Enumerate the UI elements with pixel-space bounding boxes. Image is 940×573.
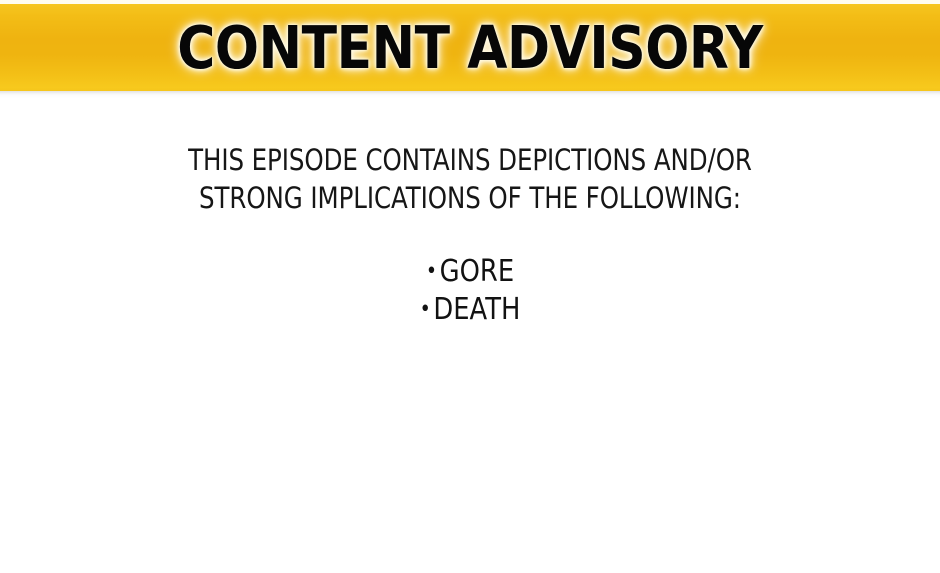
advisory-warning-list: •GORE •DEATH bbox=[0, 253, 940, 329]
advisory-intro: THIS EPISODE CONTAINS DEPICTIONS AND/OR … bbox=[0, 141, 940, 217]
content-advisory-slide: CONTENT ADVISORY THIS EPISODE CONTAINS D… bbox=[0, 0, 940, 573]
bullet-icon: • bbox=[426, 259, 440, 284]
page-title: CONTENT ADVISORY bbox=[56, 4, 883, 91]
banner-gradient-fill: CONTENT ADVISORY bbox=[0, 4, 940, 91]
advisory-body: THIS EPISODE CONTAINS DEPICTIONS AND/OR … bbox=[0, 98, 940, 573]
advisory-intro-line-2: STRONG IMPLICATIONS OF THE FOLLOWING: bbox=[73, 179, 867, 217]
advisory-intro-line-1: THIS EPISODE CONTAINS DEPICTIONS AND/OR bbox=[73, 141, 867, 179]
bullet-icon: • bbox=[420, 297, 434, 322]
list-item-label: GORE bbox=[440, 254, 515, 289]
banner-highlight-frame: CONTENT ADVISORY bbox=[0, 0, 940, 91]
list-item: •GORE bbox=[66, 253, 874, 291]
list-item-label: DEATH bbox=[433, 292, 520, 327]
list-item: •DEATH bbox=[66, 291, 874, 329]
advisory-banner: CONTENT ADVISORY bbox=[0, 0, 940, 98]
